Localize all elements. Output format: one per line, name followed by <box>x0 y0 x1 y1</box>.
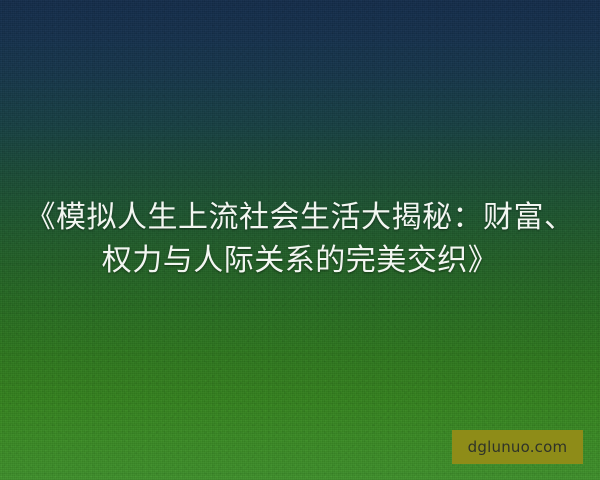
title-block: 《模拟人生上流社会生活大揭秘：财富、 权力与人际关系的完美交织》 <box>0 196 600 282</box>
title-card: 《模拟人生上流社会生活大揭秘：财富、 权力与人际关系的完美交织》 dglunuo… <box>0 0 600 480</box>
watermark-badge: dglunuo.com <box>452 430 583 464</box>
page-title: 《模拟人生上流社会生活大揭秘：财富、 权力与人际关系的完美交织》 <box>24 196 576 282</box>
watermark-text: dglunuo.com <box>468 440 568 455</box>
